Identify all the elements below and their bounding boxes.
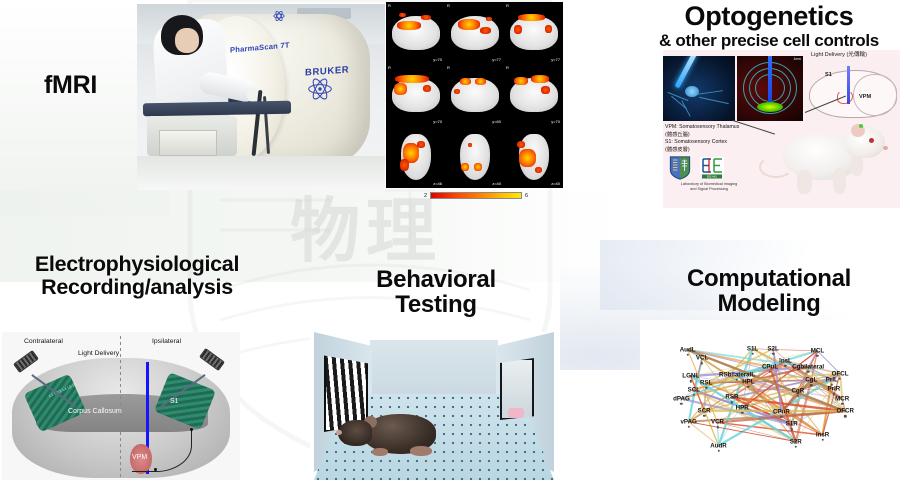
svg-text:EEE HKU: EEE HKU [707,177,717,179]
label-light-delivery: Light Delivery [78,350,119,357]
neuron-photomicrograph-panel [663,56,735,121]
heading-electrophysiology: Electrophysiological Recording/analysis [6,253,268,299]
scanner-bed-drawer [159,130,217,156]
heading-ephys-line1: Electrophysiological [35,252,239,276]
fmri-scanner-photo: PharmaScan 7T BRUKER [137,4,385,190]
behavior-rat-head [338,420,372,446]
rat-photo [759,112,887,204]
heading-computational-line1: Computational [687,265,851,292]
legend-line-vpm: VPM: Somatosensory Thalamus [665,124,739,132]
graph-node-label: InsL [779,358,792,365]
graph-node-label: InsR [816,431,829,438]
heading-computational: Computational Modeling [634,266,900,317]
graph-node-label: MCR [835,395,849,402]
heading-optogenetics-line2: & other precise cell controls [640,32,898,50]
label-contralateral: Contralateral [24,338,63,345]
legend-line-s1-cjk: (體感皮層) [665,147,739,155]
slice-label: z=46 [433,181,442,186]
graph-node-label: vPAG [680,418,696,425]
graph-node-label: RSR [725,394,738,401]
heading-behavioral: Behavioral Testing [318,267,554,318]
legend-line-vpm-cjk: (體感丘腦) [665,132,739,140]
graph-node-label: MCL [811,347,824,354]
heading-computational-line2: Modeling [718,290,821,317]
graph-node-label: LGNL [682,373,699,380]
graph-node-label: dPAG [673,395,690,402]
s1-label: S1 [825,72,832,78]
graph-node-label: HPR [736,404,749,411]
graph-node-label: AudL [680,346,696,353]
pathway-origin-dot [154,468,157,471]
brain-slice: z=40 [446,127,503,187]
heading-optogenetics-line1: Optogenetics [640,2,898,31]
bruker-atom-small-icon [273,10,285,22]
pathway-endpoint-dot [190,428,193,431]
orientation-label: R [506,3,509,8]
lab-floor [137,156,385,190]
slice-label: y=77 [492,57,501,62]
scanner-bed-rail [143,101,291,117]
lab-caption-line2: and Signal Processing [669,187,749,192]
brain-slice: z=40 [505,127,562,187]
graph-node-label: CPuR [773,408,790,415]
label-ipsilateral: Ipsilateral [152,338,181,345]
slice-label: z=40 [551,181,560,186]
brain-slice: R y=70 [387,65,444,125]
graph-node-label: VCR [711,419,724,426]
brain-slice: R y=70 [387,3,444,63]
bruker-atom-icon [307,76,333,102]
label-vpm: VPM [132,454,147,461]
graph-node-label: S1R [786,421,798,428]
connectivity-graph: AudLVCLS1LS2LMCLInsLCPuLCgbilateralOFCLL… [640,320,898,480]
orientation-label: R [388,3,391,8]
heading-behavioral-line1: Behavioral [376,266,496,293]
slice-label: y=70 [433,57,442,62]
graph-node-label: SCL [688,387,700,394]
slice-label: y=77 [551,57,560,62]
heading-fmri: fMRI [8,72,133,99]
brain-slice: R y=77 [446,3,503,63]
recording-probe-ipsilateral [199,348,225,371]
behavior-rat-nose [336,430,342,435]
vpm-label: VPM [859,94,871,100]
colorbar-min-label: 2 [424,193,427,199]
optic-fiber-beam [675,56,698,88]
colorbar-gradient [430,192,522,199]
graph-node-label: Cgbilateral [792,364,824,371]
slice-label: y=70 [551,119,560,124]
neuron-soma [685,86,699,97]
graph-node-label: VCL [696,355,708,362]
graph-node-label: RSL [700,379,712,386]
optogenetics-figure: 1mm Light Delivery (光傳輸) S1 VPM VPM: Som… [663,50,900,208]
graph-node-label: S2R [790,438,802,445]
orientation-label: R [447,3,450,8]
colorbar-max-label: 6 [525,193,528,199]
watermark-cjk-text: 物理 [290,175,442,276]
implant-marker [859,124,863,128]
graph-node-label: PrlR [828,386,841,393]
label-corpus-callosum: Corpus Callosum [68,408,122,415]
heading-optogenetics: Optogenetics & other precise cell contro… [640,2,898,50]
electrophysiology-figure: L1 L2/3 L4 L5 L6 Contralateral Ipsilater… [2,332,240,480]
slice-label: y=70 [433,119,442,124]
graph-node-label: SCR [698,407,711,414]
recording-probe-contralateral [13,350,39,373]
schematic-optic-fiber [847,66,850,104]
slice-label: z=40 [492,181,501,186]
brain-slice: R y=70 [505,65,562,125]
rat-eye [869,138,874,143]
atlas-roi-highlight [757,102,783,112]
lab-logos-block: EEE HKU Laboratory of Biomedical Imaging… [669,156,745,192]
graph-node-label: PrlL [826,376,838,383]
optogenetics-legend: VPM: Somatosensory Thalamus (體感丘腦) S1: S… [665,124,739,154]
graph-node-label: CgL [805,377,817,384]
hku-shield-logo [669,156,691,180]
atlas-scale-label: 1mm [793,57,801,61]
light-delivery-label: Light Delivery (光傳輸) [811,50,867,58]
brain-slice: z=46 [387,127,444,187]
fmri-activation-map-grid: R y=70 R y=77 R y=77 R y=70 [386,2,563,188]
brain-slice: R y=60 [446,65,503,125]
graph-node-label: OFCR [836,408,854,415]
graph-node-label: CgR [791,387,804,394]
axial-brain [460,134,490,180]
orientation-label: R [388,65,391,70]
label-s1: S1 [170,398,179,405]
heading-behavioral-line2: Testing [395,291,476,318]
orientation-label: R [506,65,509,70]
orientation-label: R [447,65,450,70]
technician-face [175,28,199,53]
legend-line-s1: S1: Somatosensory Cortex [665,139,739,147]
rat-nose [883,146,888,150]
poster-canvas: 物理 fMRI PharmaScan 7T BRUKER [0,0,900,480]
graph-node-label: S2L [767,345,778,352]
brain-slice: R y=77 [505,3,562,63]
graph-node-label: AudR [710,442,727,449]
reward-spout [508,408,524,418]
brain-midline [120,336,121,478]
lab-caption: Laboratory of Biomedical Imaging and Sig… [669,182,749,192]
eee-department-logo: EEE HKU [699,156,725,180]
graph-node-label: HPL [742,378,754,385]
behavioral-chamber-figure [310,332,558,480]
heading-ephys-line2: Recording/analysis [41,275,233,299]
graph-node-label: CPuL [762,364,778,371]
slice-label: y=60 [492,119,501,124]
fmri-colorbar: 2 6 [424,190,528,201]
graph-node-label: S1L [747,345,758,352]
